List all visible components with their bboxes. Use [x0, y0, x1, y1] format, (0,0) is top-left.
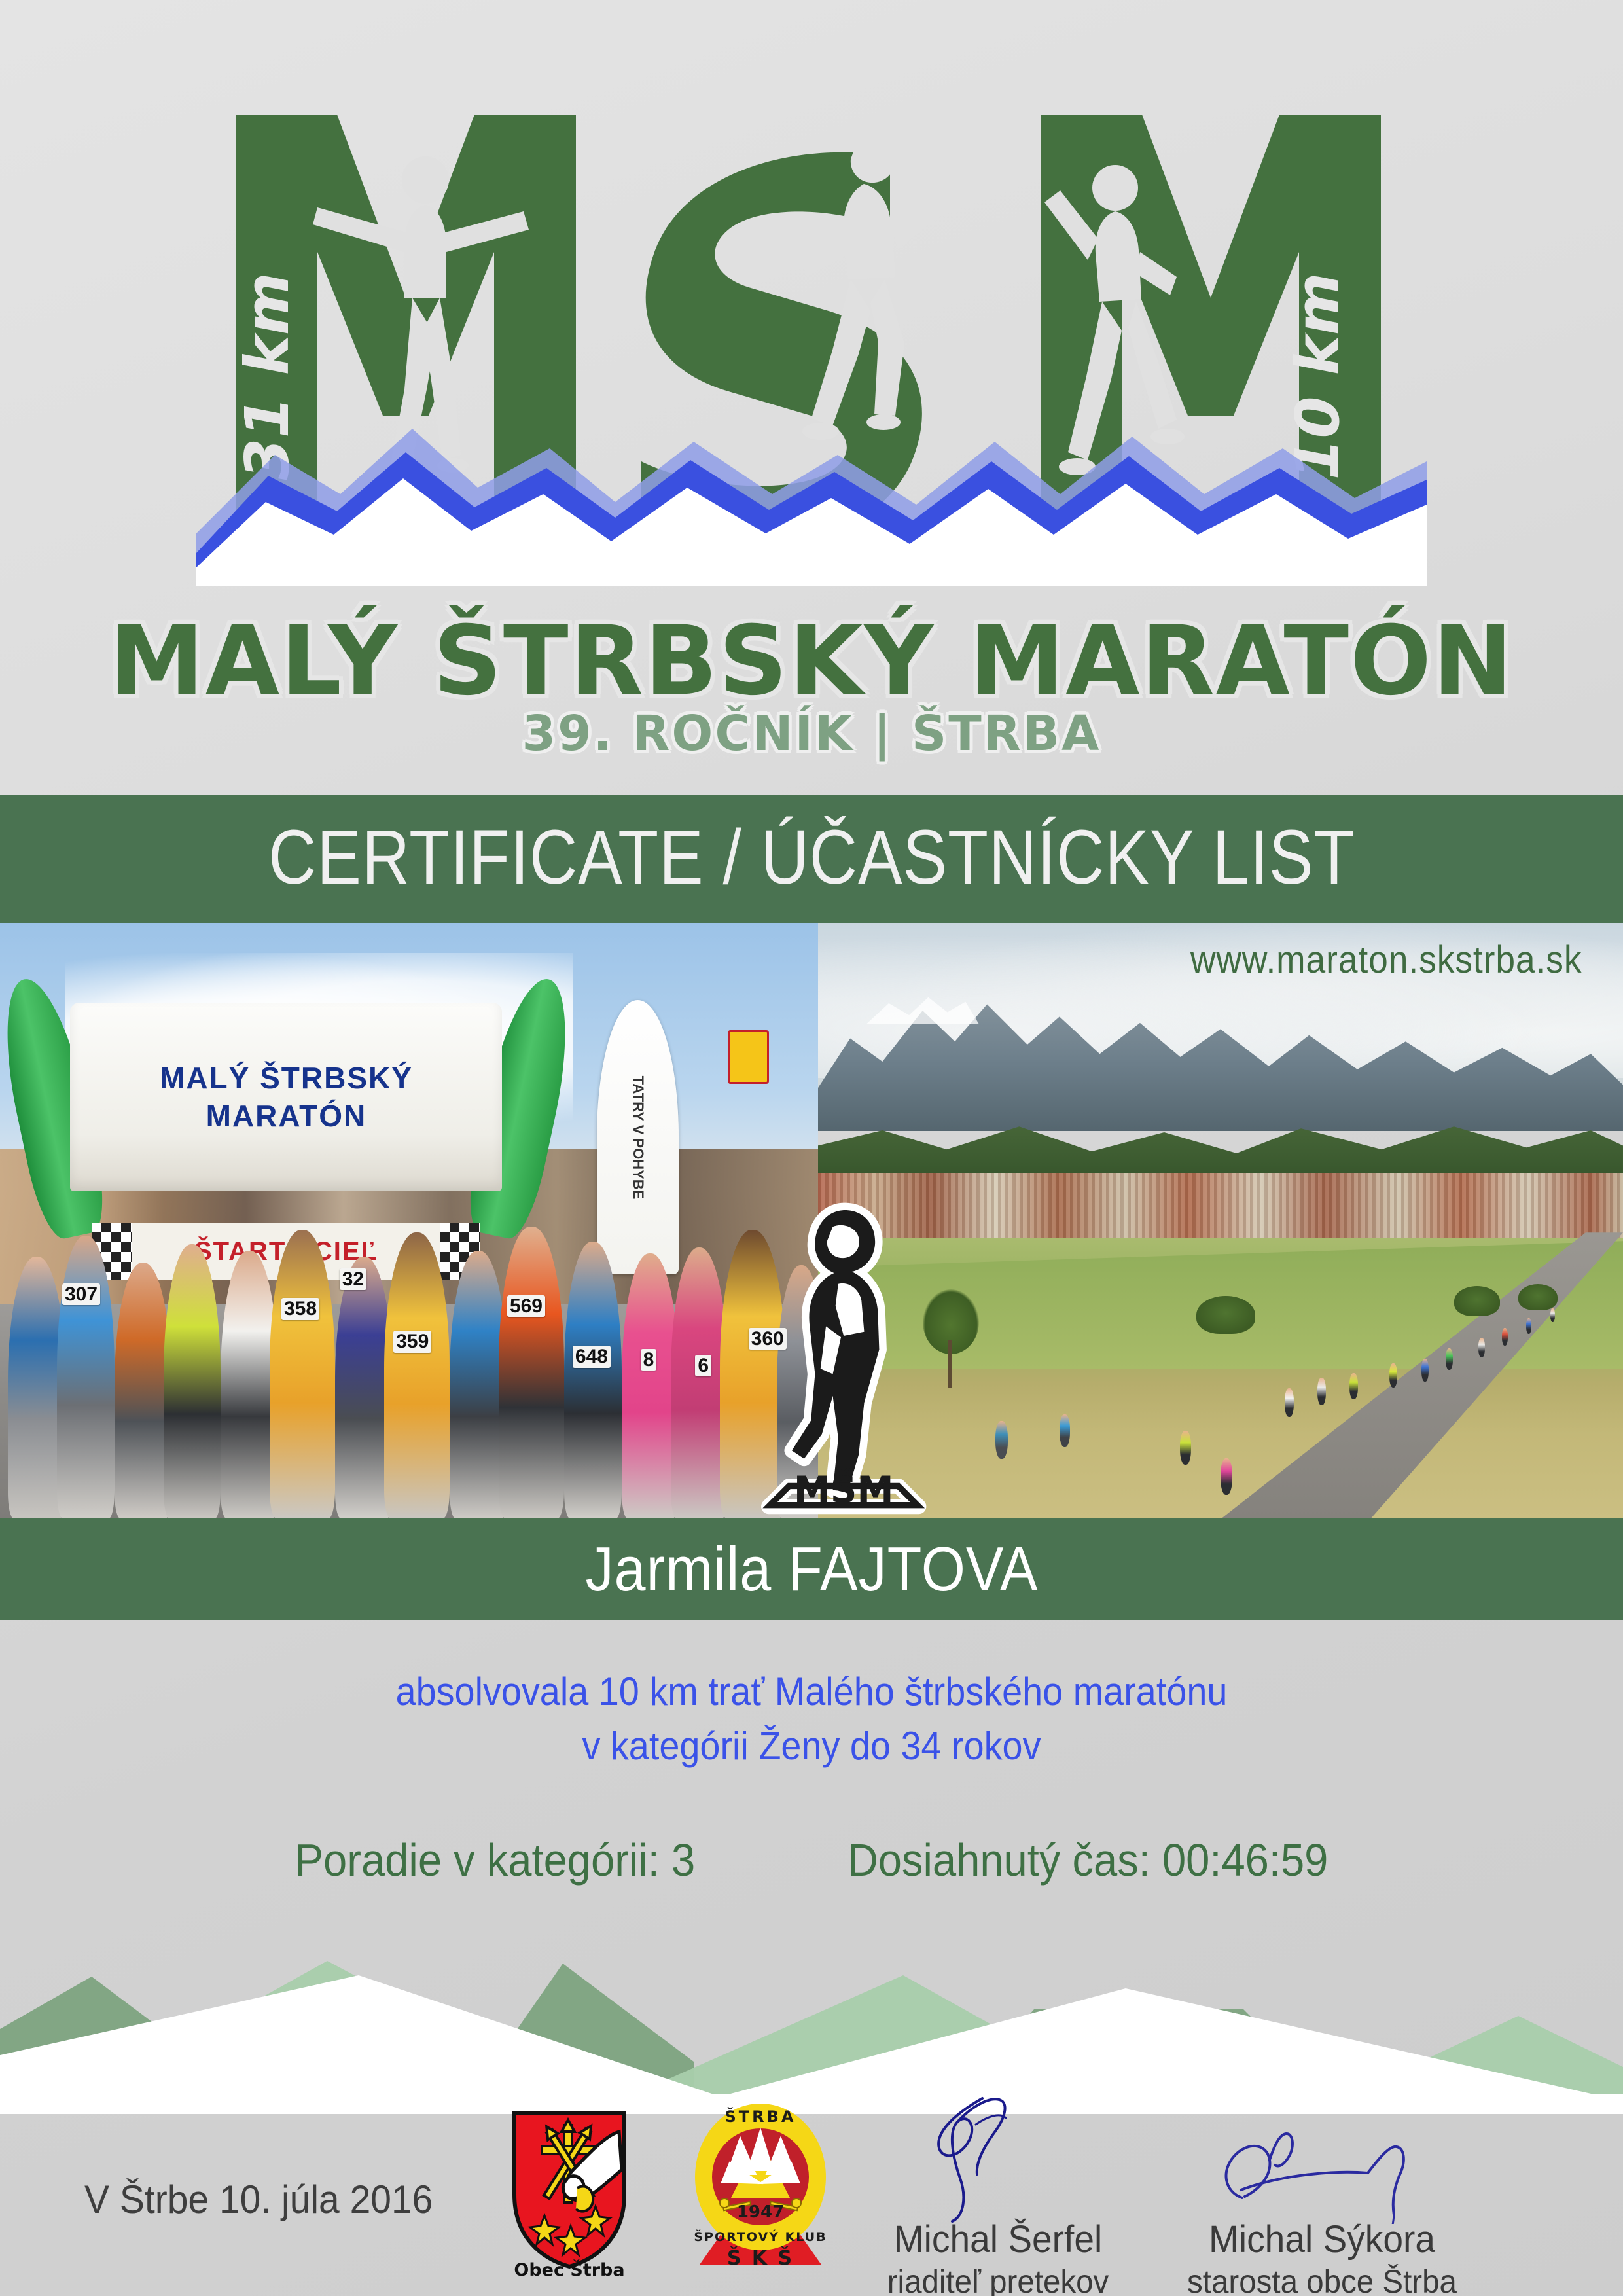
signature-mark-director: [854, 2093, 1142, 2224]
signature-name-mayor: Michal Sýkora: [1179, 2217, 1465, 2261]
event-title: MALÝ ŠTRBSKÝ MARATÓN: [0, 605, 1623, 717]
flag-text: TATRY V POHYBE: [630, 1075, 647, 1199]
event-edition: 39. ROČNÍK | ŠTRBA: [0, 706, 1623, 762]
road-sign: [728, 1030, 768, 1084]
runner-bib: 359: [393, 1331, 431, 1353]
club-year: 1947: [737, 2202, 784, 2222]
photo-strip: MALÝ ŠTRBSKÝ MARATÓN ŠTART - CIEĽ TATRY …: [0, 920, 1623, 1518]
finish-time: Dosiahnutý čas: 00:46:59: [847, 1834, 1329, 1886]
road-runner: [1317, 1378, 1326, 1405]
runner-figure: [499, 1227, 564, 1518]
website-url: www.maraton.skstrba.sk: [1190, 938, 1582, 982]
statement-line-1: absolvovala 10 km trať Malého štrbského …: [57, 1669, 1566, 1714]
certificate-banner: CERTIFICATE / ÚČASTNÍCKY LIST: [0, 795, 1623, 920]
club-top-text: ŠTRBA: [724, 2106, 796, 2126]
runner-figure: [164, 1244, 221, 1518]
results-row: Poradie v kategórii: 3 Dosiahnutý čas: 0…: [57, 1834, 1566, 1886]
statement-area: absolvovala 10 km trať Malého štrbského …: [0, 1620, 1623, 1905]
logo-left-distance-text: 31 km: [232, 272, 302, 480]
runner-bib: 32: [340, 1268, 366, 1291]
footer: V Štrbe 10. júla 2016: [0, 2080, 1623, 2296]
sks-strba-club-emblem-svg: 1947 ŠTRBA ŠPORTOVÝ KLUB Š K Š: [690, 2100, 831, 2283]
inflatable-start-arch: MALÝ ŠTRBSKÝ MARATÓN ŠTART - CIEĽ: [16, 977, 556, 1238]
runner-figure: [270, 1230, 335, 1518]
club-arc-text: ŠPORTOVÝ KLUB: [694, 2229, 827, 2244]
obec-strba-emblem: Obec Štrba: [504, 2109, 635, 2276]
obec-strba-label: Obec Štrba: [514, 2259, 624, 2276]
signature-name-director: Michal Šerfel: [861, 2217, 1135, 2261]
runner-bib: 307: [62, 1283, 100, 1306]
runner-bib: 6: [695, 1355, 711, 1377]
participant-name-band: Jarmila FAJTOVA: [0, 1518, 1623, 1620]
bush: [1454, 1286, 1500, 1316]
issue-date: V Štrbe 10. júla 2016: [84, 2177, 433, 2222]
logo-right-distance-text: 10 km: [1283, 272, 1353, 480]
road-runner: [1550, 1308, 1555, 1322]
bush: [1518, 1284, 1558, 1310]
signature-role-director: riaditeľ pretekov: [861, 2263, 1135, 2296]
road-runner: [1221, 1458, 1232, 1495]
road-runner: [1060, 1414, 1070, 1447]
participant-name: Jarmila FAJTOVA: [585, 1534, 1038, 1605]
arch-banner-panel: MALÝ ŠTRBSKÝ MARATÓN: [70, 1003, 502, 1191]
header-logo-area: 31 km: [0, 0, 1623, 795]
msm-runner-badge: MŠM: [738, 1191, 949, 1519]
road-runner: [1421, 1359, 1429, 1382]
signature-role-mayor: starosta obce Štrba: [1179, 2263, 1465, 2296]
obec-strba-emblem-svg: Obec Štrba: [504, 2109, 635, 2276]
statement-line-2: v kategórii Ženy do 34 rokov: [57, 1723, 1566, 1768]
msm-badge-label: MŠM: [794, 1467, 894, 1511]
runner-bib: 8: [641, 1349, 657, 1371]
signature-block-mayor: Michal Sýkora starosta obce Štrba: [1171, 2093, 1472, 2296]
runner-figure: [564, 1242, 621, 1518]
runner-bib: 569: [507, 1295, 545, 1318]
msm-logo-svg: 31 km: [196, 36, 1427, 586]
certificate-banner-title: CERTIFICATE / ÚČASTNÍCKY LIST: [268, 813, 1355, 902]
msm-logo: 31 km: [0, 36, 1623, 586]
road-runner: [1446, 1348, 1453, 1370]
runner-crowd: 307 358 32 359 569 648 8 6 360: [0, 1221, 818, 1518]
arch-text-line2: MARATÓN: [206, 1098, 367, 1134]
bush: [1196, 1296, 1255, 1334]
category-rank: Poradie v kategórii: 3: [295, 1834, 696, 1886]
sks-strba-club-emblem: 1947 ŠTRBA ŠPORTOVÝ KLUB Š K Š: [690, 2100, 831, 2283]
msm-runner-badge-svg: MŠM: [738, 1191, 949, 1519]
road-runner: [1478, 1338, 1485, 1357]
start-line-crowd-photo: MALÝ ŠTRBSKÝ MARATÓN ŠTART - CIEĽ TATRY …: [0, 923, 818, 1518]
club-abbrev: Š K Š: [727, 2246, 794, 2270]
runner-bib: 648: [573, 1346, 611, 1368]
runner-figure: [384, 1232, 450, 1518]
runner-bib: 358: [281, 1298, 319, 1320]
spectator: [995, 1421, 1008, 1459]
runner-figure: [57, 1236, 114, 1518]
signature-block-director: Michal Šerfel riaditeľ pretekov: [854, 2093, 1142, 2296]
signature-mark-mayor: [1171, 2093, 1472, 2224]
logo-mountain-range: [196, 429, 1427, 586]
road-runner: [1389, 1363, 1397, 1388]
arch-text-line1: MALÝ ŠTRBSKÝ: [160, 1060, 413, 1096]
road-runner: [1349, 1373, 1358, 1399]
road-runner: [1285, 1388, 1294, 1417]
cuff: [576, 2186, 593, 2211]
certificate-page: 31 km: [0, 0, 1623, 2296]
road-runner: [1180, 1431, 1191, 1465]
